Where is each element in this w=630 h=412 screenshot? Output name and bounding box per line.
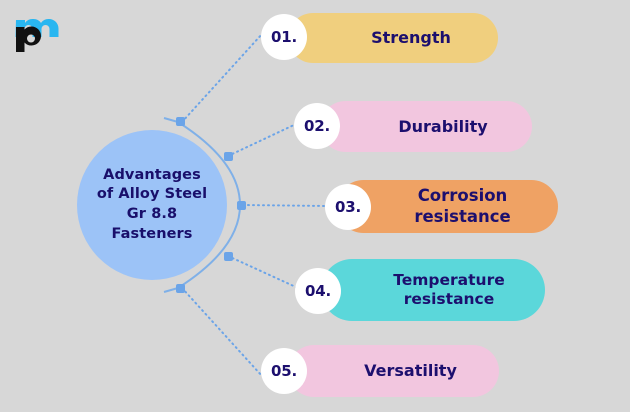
- arc-node-3: [237, 201, 246, 210]
- item-badge-2[interactable]: 02.: [294, 103, 340, 149]
- item-pill-5[interactable]: Versatility: [288, 345, 499, 397]
- item-label-4: Temperature resistance: [321, 271, 545, 310]
- item-badge-1[interactable]: 01.: [261, 14, 307, 60]
- arc-tail-top: [164, 118, 178, 122]
- arc-node-4: [224, 252, 233, 261]
- item-pill-1[interactable]: Strength: [288, 13, 498, 63]
- item-label-4-line-2: resistance: [404, 290, 495, 308]
- item-badge-4[interactable]: 04.: [295, 268, 341, 314]
- item-pill-2[interactable]: Durability: [320, 101, 532, 152]
- item-label-2: Durability: [320, 117, 532, 137]
- arc-node-2: [224, 152, 233, 161]
- center-line-4: Fasteners: [111, 226, 192, 242]
- infographic-canvas: Advantages of Alloy Steel Gr 8.8 Fastene…: [0, 0, 630, 412]
- item-label-1: Strength: [288, 28, 498, 48]
- leader-line-1: [182, 34, 262, 122]
- item-label-4-line-1: Temperature: [393, 271, 505, 289]
- leader-line-5: [182, 288, 262, 376]
- leader-line-4: [228, 256, 298, 288]
- center-line-2: of Alloy Steel: [97, 186, 207, 202]
- center-topic-circle: Advantages of Alloy Steel Gr 8.8 Fastene…: [77, 130, 227, 280]
- item-number-3: 03.: [335, 198, 361, 216]
- arc-node-5: [176, 284, 185, 293]
- brand-logo-icon: [10, 8, 66, 54]
- leader-line-2: [228, 124, 296, 156]
- item-pill-4[interactable]: Temperature resistance: [321, 259, 545, 321]
- center-line-3: Gr 8.8: [127, 206, 177, 222]
- leader-line-3: [243, 205, 328, 206]
- item-badge-3[interactable]: 03.: [325, 184, 371, 230]
- brand-logo: [10, 8, 66, 54]
- item-number-5: 05.: [271, 362, 297, 380]
- item-badge-5[interactable]: 05.: [261, 348, 307, 394]
- item-number-4: 04.: [305, 282, 331, 300]
- center-line-1: Advantages: [103, 167, 201, 183]
- item-number-1: 01.: [271, 28, 297, 46]
- center-topic-label: Advantages of Alloy Steel Gr 8.8 Fastene…: [87, 166, 217, 244]
- item-label-5: Versatility: [288, 361, 499, 381]
- item-number-2: 02.: [304, 117, 330, 135]
- arc-node-1: [176, 117, 185, 126]
- arc-tail-bottom: [164, 288, 178, 292]
